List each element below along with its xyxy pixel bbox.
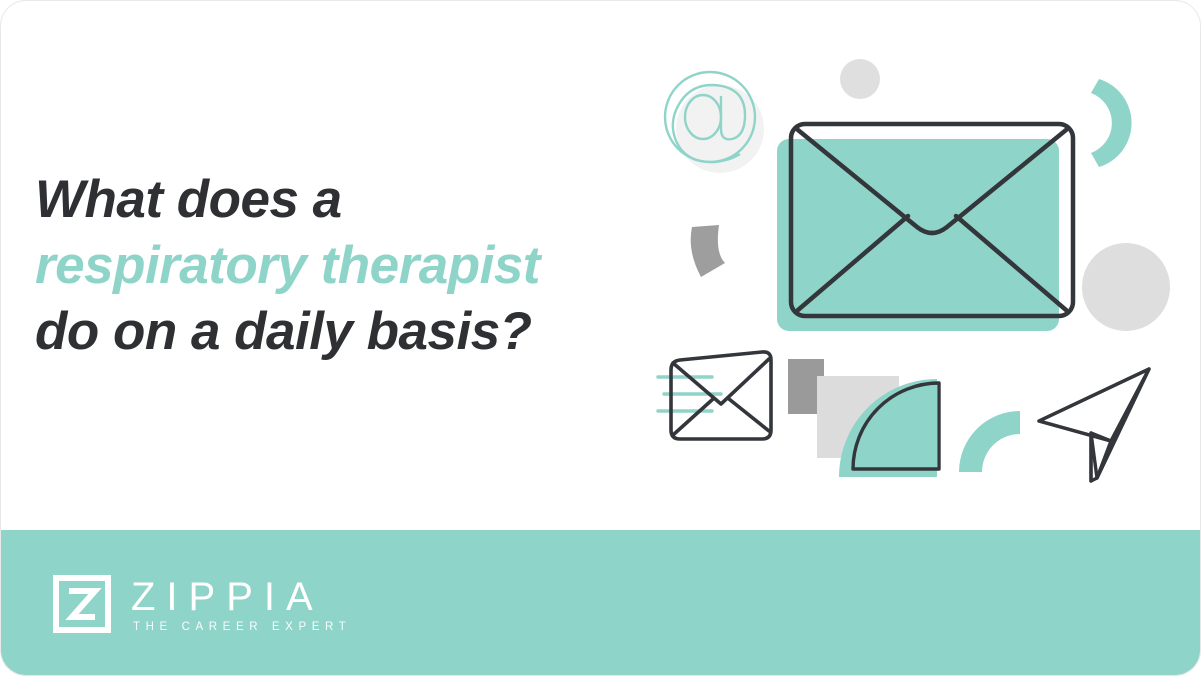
brand-logo[interactable]: ZIPPIA THE CAREER EXPERT <box>53 573 351 635</box>
promo-card: What does a respiratory therapist do on … <box>0 0 1201 676</box>
paper-plane-detail-lines <box>1039 369 1149 481</box>
headline-line-1: What does a <box>35 167 635 233</box>
gray-circle-large <box>1082 243 1170 331</box>
page-title: What does a respiratory therapist do on … <box>35 167 635 365</box>
illustration-area <box>621 29 1201 509</box>
gray-petal-wedge <box>691 225 725 277</box>
zippia-z-mark-icon <box>53 575 111 633</box>
gray-circle-small <box>840 59 880 99</box>
teal-crescent-arc <box>1091 79 1132 167</box>
teal-elbow-arc <box>959 411 1020 472</box>
headline-line-3: do on a daily basis? <box>35 299 635 365</box>
brand-tagline: THE CAREER EXPERT <box>133 620 351 634</box>
brand-name: ZIPPIA <box>131 577 351 617</box>
headline-line-2-accent: respiratory therapist <box>35 233 635 299</box>
brand-text-block: ZIPPIA THE CAREER EXPERT <box>131 575 351 634</box>
